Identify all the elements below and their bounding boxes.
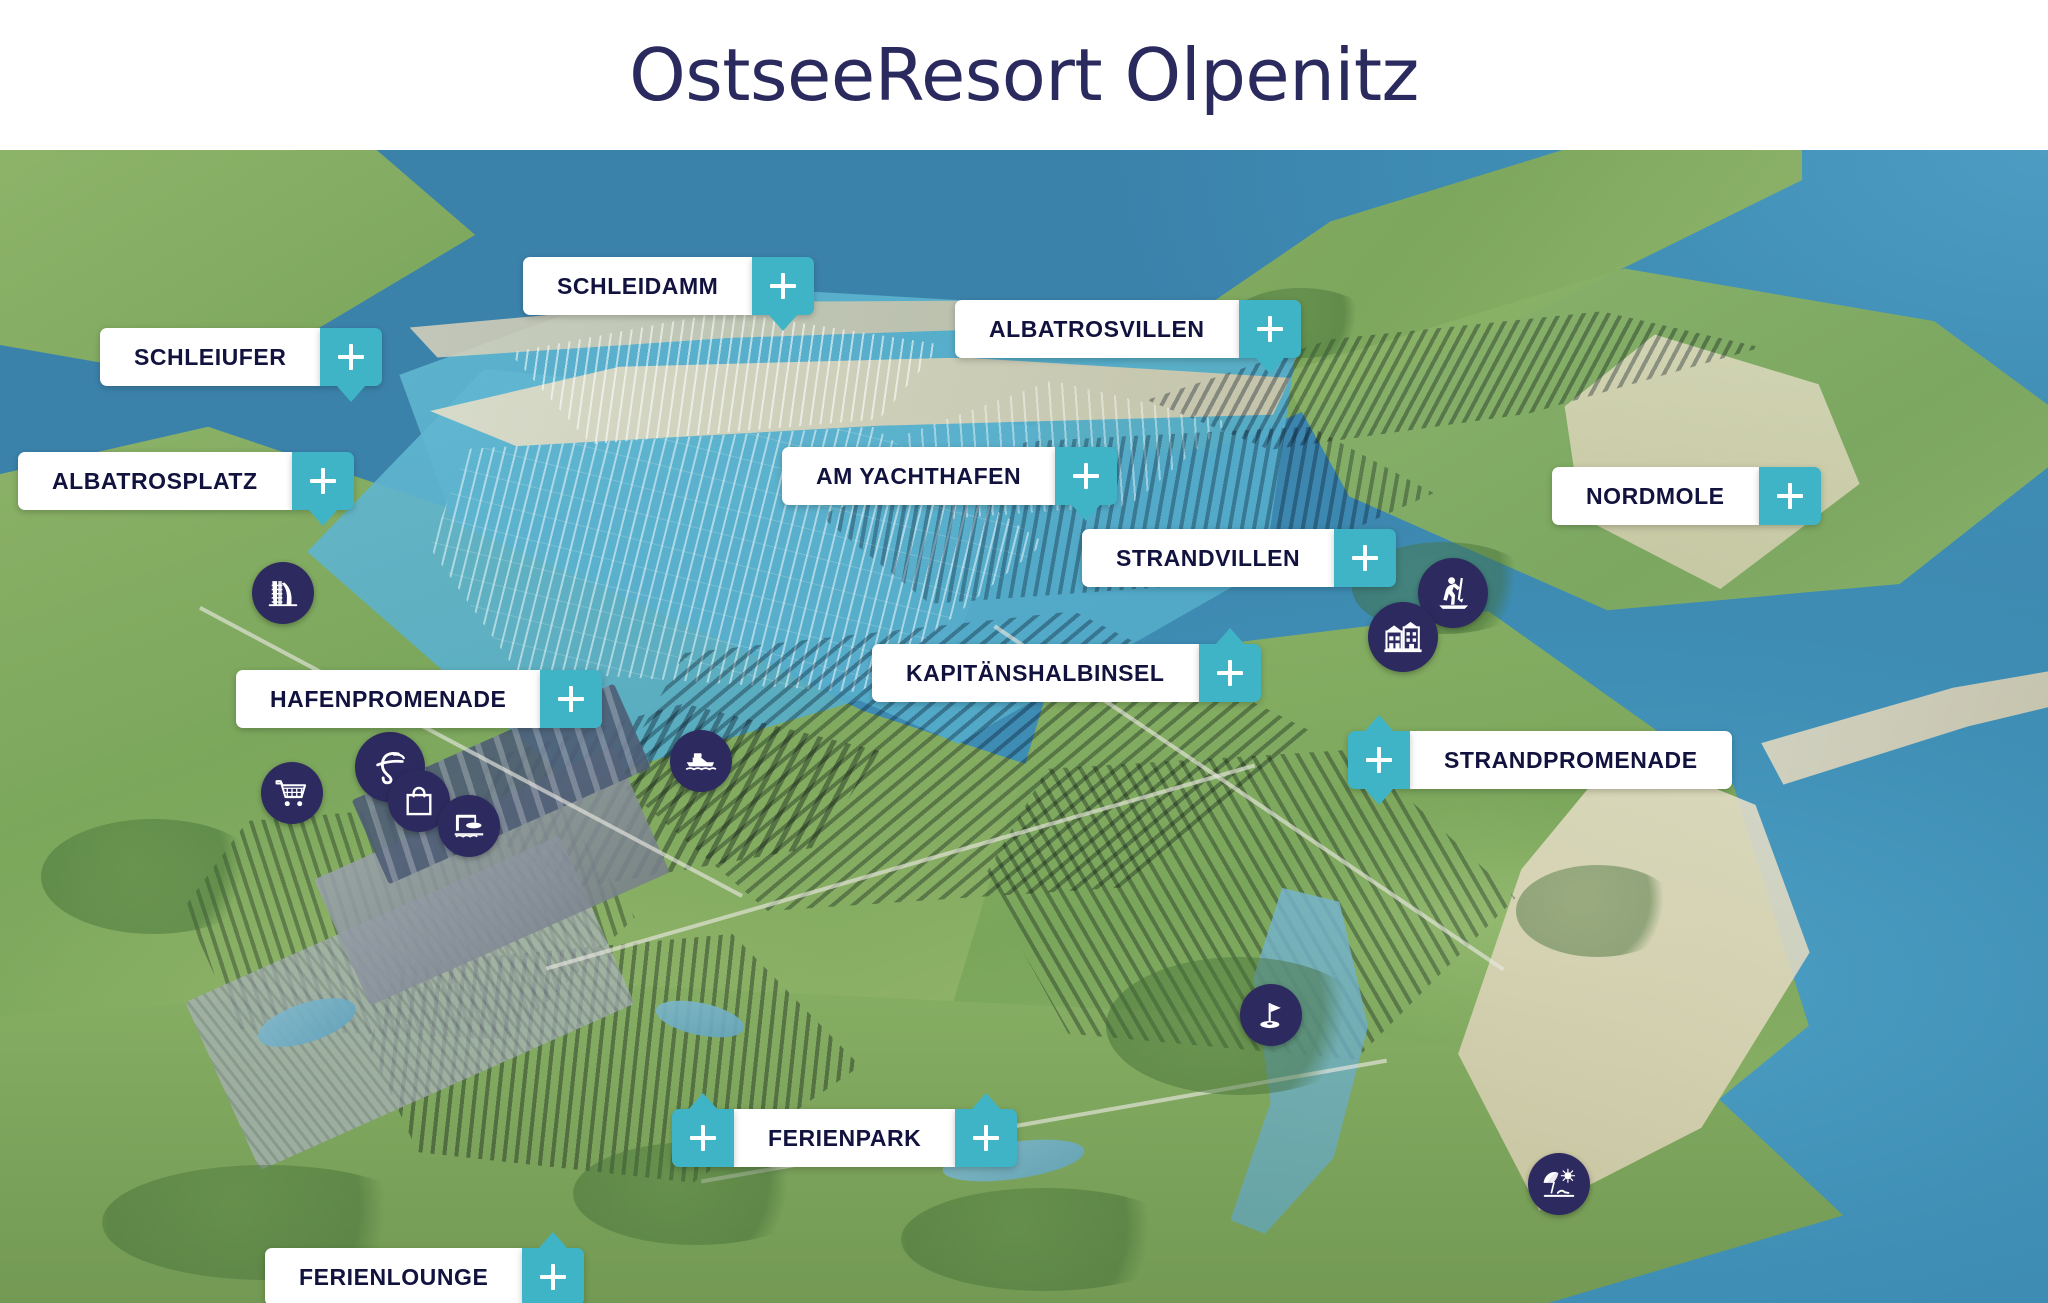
pointer-down-icon [768,314,798,331]
expand-button-schleiufer[interactable] [320,328,382,386]
plus-icon-v [349,344,353,370]
pointer-down-icon [1364,788,1394,805]
market-building-icon[interactable] [1368,602,1438,672]
golf-flag-icon[interactable] [1240,984,1302,1046]
plus-icon-v [1268,316,1272,342]
plus-icon-v [1788,483,1792,509]
hotspot-label-schleidamm: SCHLEIDAMM [523,257,752,315]
pointer-up-icon [688,1093,718,1110]
hotspot-label-ferienpark: FERIENPARK [734,1109,955,1167]
expand-button-strandpromenade[interactable] [1348,731,1410,789]
expand-button-kapitaenshalbinsel[interactable] [1199,644,1261,702]
hotspot-label-albatrosvillen: ALBATROSVILLEN [955,300,1239,358]
hotspot-label-ferienlounge: FERIENLOUNGE [265,1248,522,1303]
beach-umbrella-icon[interactable] [1528,1153,1590,1215]
pointer-down-icon [308,509,338,526]
tree-cluster-east [1516,865,1680,957]
plus-icon-v [1084,463,1088,489]
hotspot-label-strandpromenade: STRANDPROMENADE [1410,731,1732,789]
hotspot-nordmole[interactable]: NORDMOLE [1552,467,1821,525]
hotspot-ferienpark[interactable]: FERIENPARK [672,1109,1017,1167]
resort-map[interactable]: SCHLEIDAMM ALBATROSVILLEN SCHLEIUFER ALB… [0,150,2048,1303]
expand-button-nordmole[interactable] [1759,467,1821,525]
hotspot-label-am-yachthafen: AM YACHTHAFEN [782,447,1055,505]
expand-button-hafenpromenade[interactable] [540,670,602,728]
pointer-up-icon [1215,628,1245,645]
tree-cluster-central [1106,957,1372,1095]
expand-button-albatrosvillen[interactable] [1239,300,1301,358]
expand-button-schleidamm[interactable] [752,257,814,315]
page-title: OstseeResort Olpenitz [629,33,1419,117]
water-slide-icon[interactable] [252,562,314,624]
pointer-down-icon [1071,504,1101,521]
expand-button-ferienpark-left[interactable] [672,1109,734,1167]
hotspot-albatrosplatz[interactable]: ALBATROSPLATZ [18,452,354,510]
pointer-up-icon [1364,715,1394,732]
hotspot-label-strandvillen: STRANDVILLEN [1082,529,1334,587]
plus-icon-v [1363,545,1367,571]
expand-button-albatrosplatz[interactable] [292,452,354,510]
title-bar: OstseeResort Olpenitz [0,0,2048,150]
pointer-up-icon [971,1093,1001,1110]
hotspot-label-hafenpromenade: HAFENPROMENADE [236,670,540,728]
plus-icon-v [551,1264,555,1290]
shopping-cart-icon[interactable] [261,762,323,824]
hotspot-label-schleiufer: SCHLEIUFER [100,328,320,386]
plus-icon-v [1228,660,1232,686]
hotspot-schleidamm[interactable]: SCHLEIDAMM [523,257,814,315]
plus-icon-v [701,1125,705,1151]
hotspot-strandvillen[interactable]: STRANDVILLEN [1082,529,1396,587]
hotspot-label-nordmole: NORDMOLE [1552,467,1759,525]
pointer-up-icon [538,1232,568,1249]
expand-button-strandvillen[interactable] [1334,529,1396,587]
pointer-down-icon [1255,357,1285,374]
plus-icon-v [321,468,325,494]
plus-icon-v [781,273,785,299]
boat-crane-icon[interactable] [438,795,500,857]
hotspot-strandpromenade[interactable]: STRANDPROMENADE [1348,731,1732,789]
tree-cluster-south [901,1188,1188,1292]
hotspot-hafenpromenade[interactable]: HAFENPROMENADE [236,670,602,728]
expand-button-ferienpark-right[interactable] [955,1109,1017,1167]
plus-icon-v [1377,747,1381,773]
hotspot-schleiufer[interactable]: SCHLEIUFER [100,328,382,386]
pointer-down-icon [336,385,366,402]
hotspot-label-albatrosplatz: ALBATROSPLATZ [18,452,292,510]
hotspot-albatrosvillen[interactable]: ALBATROSVILLEN [955,300,1301,358]
motorboat-icon[interactable] [670,730,732,792]
plus-icon-v [569,686,573,712]
tree-cluster-west [41,819,266,934]
hotspot-am-yachthafen[interactable]: AM YACHTHAFEN [782,447,1117,505]
hotspot-ferienlounge[interactable]: FERIENLOUNGE [265,1248,584,1303]
hotspot-label-kapitaenshalbinsel: KAPITÄNSHALBINSEL [872,644,1199,702]
plus-icon-v [984,1125,988,1151]
expand-button-ferienlounge[interactable] [522,1248,584,1303]
hotspot-kapitaenshalbinsel[interactable]: KAPITÄNSHALBINSEL [872,644,1261,702]
expand-button-am-yachthafen[interactable] [1055,447,1117,505]
